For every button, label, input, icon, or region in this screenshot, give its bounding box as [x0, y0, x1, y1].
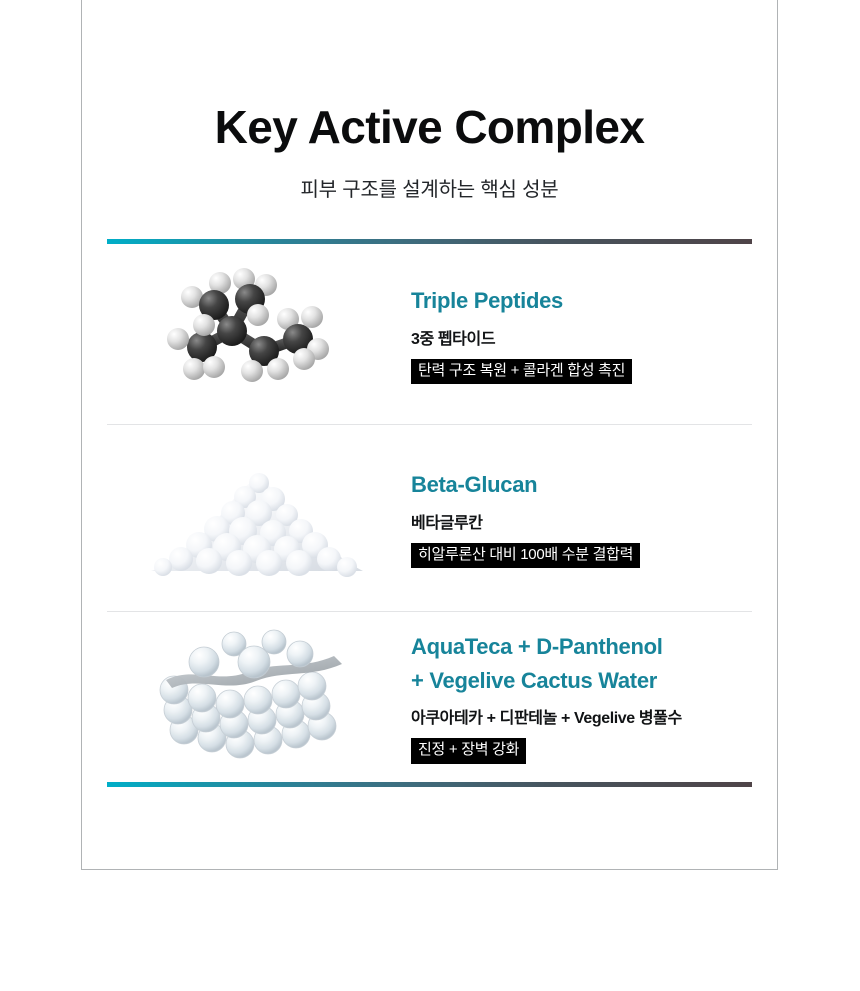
layered-sphere-lattice-icon	[142, 622, 372, 772]
ingredient-info: Beta-Glucan 베타글루칸 히알루론산 대비 100배 수분 결합력	[407, 468, 752, 568]
ingredient-name-ko: 아쿠아테카 + 디판테놀 + Vegelive 병풀수	[411, 697, 752, 728]
gradient-rule-bottom	[107, 782, 752, 787]
page-title: Key Active Complex	[82, 103, 777, 151]
molecule-ball-and-stick-icon	[152, 259, 362, 409]
page-subtitle: 피부 구조를 설계하는 핵심 성분	[82, 151, 777, 202]
ingredient-benefit-badge: 진정 + 장벽 강화	[411, 738, 526, 764]
ingredient-row[interactable]: Triple Peptides 3중 펩타이드 탄력 구조 복원 + 콜라겐 합…	[107, 244, 752, 424]
ingredient-name-en: AquaTeca + D-Panthenol	[411, 630, 752, 663]
ingredient-info: AquaTeca + D-Panthenol + Vegelive Cactus…	[407, 630, 752, 764]
ingredient-name-en-line2: + Vegelive Cactus Water	[411, 664, 752, 697]
ingredient-name-ko: 베타글루칸	[411, 502, 752, 533]
ingredient-image-lattice	[107, 622, 407, 772]
ingredient-row[interactable]: AquaTeca + D-Panthenol + Vegelive Cactus…	[107, 611, 752, 782]
ingredient-info: Triple Peptides 3중 펩타이드 탄력 구조 복원 + 콜라겐 합…	[407, 284, 752, 384]
ingredient-row[interactable]: Beta-Glucan 베타글루칸 히알루론산 대비 100배 수분 결합력	[107, 424, 752, 611]
ingredient-image-molecule	[107, 259, 407, 409]
ingredient-name-ko: 3중 펩타이드	[411, 318, 752, 349]
card-header: Key Active Complex 피부 구조를 설계하는 핵심 성분	[82, 0, 777, 202]
ingredient-name-en: Beta-Glucan	[411, 468, 752, 501]
ingredient-benefit-badge: 히알루론산 대비 100배 수분 결합력	[411, 543, 640, 569]
ingredient-name-en: Triple Peptides	[411, 284, 752, 317]
ingredient-list: Triple Peptides 3중 펩타이드 탄력 구조 복원 + 콜라겐 합…	[82, 244, 777, 782]
ingredient-benefit-badge: 탄력 구조 복원 + 콜라겐 합성 촉진	[411, 359, 632, 385]
ingredient-image-powder	[107, 443, 407, 593]
page-root: Key Active Complex 피부 구조를 설계하는 핵심 성분	[0, 0, 860, 991]
white-powder-pile-icon	[137, 453, 377, 583]
key-active-complex-card: Key Active Complex 피부 구조를 설계하는 핵심 성분	[81, 0, 778, 870]
